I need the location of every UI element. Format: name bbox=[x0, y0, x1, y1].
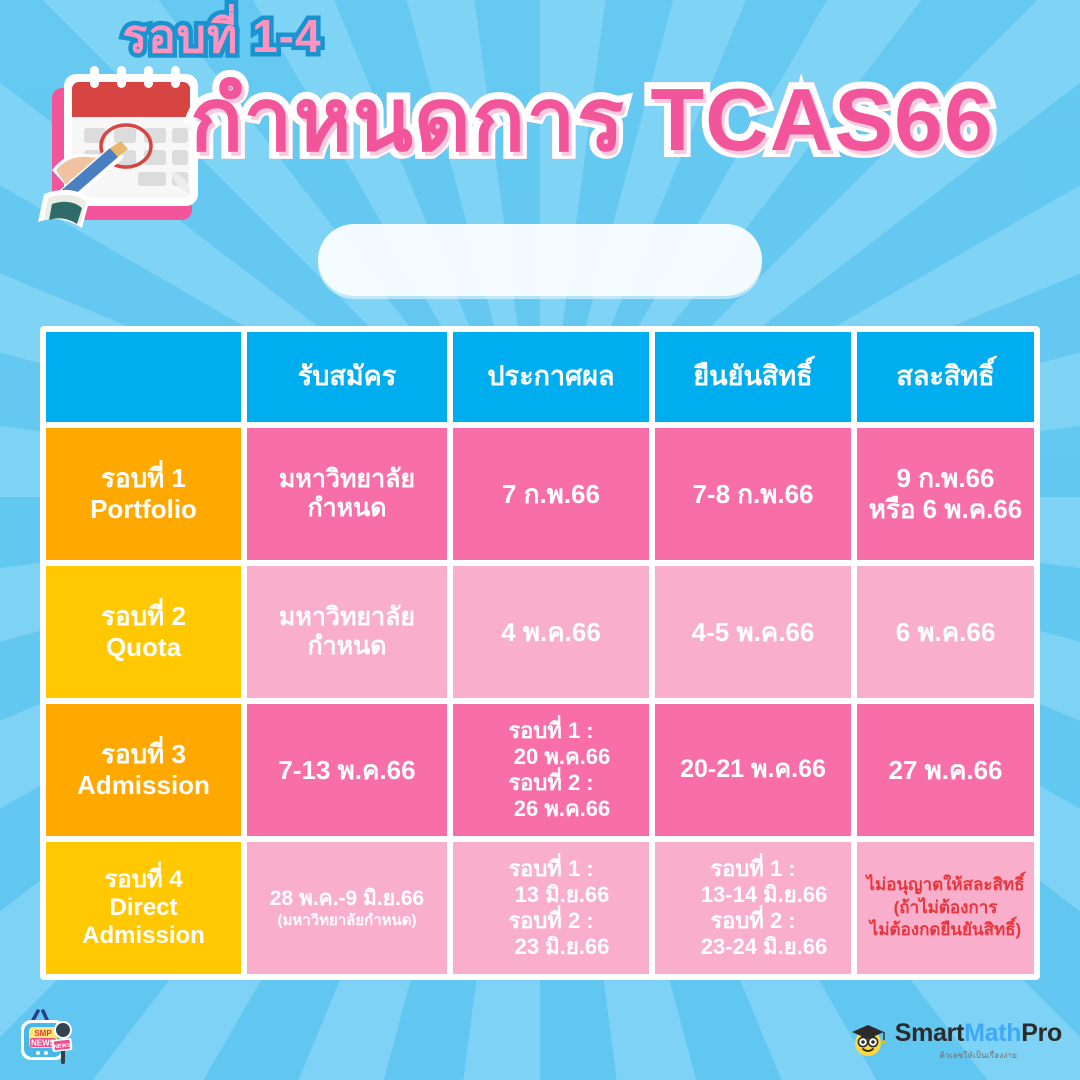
column-header-confirm: ยืนยันสิทธิ์ bbox=[655, 332, 851, 422]
brand-part-math: Math bbox=[964, 1019, 1021, 1047]
graduate-emoji-icon bbox=[848, 1020, 888, 1060]
smp-news-tv-icon: SMP NEWS NEWS bbox=[18, 1008, 88, 1072]
cell-line: 7 ก.พ.66 bbox=[502, 479, 600, 510]
cell-waive-round-2: 6 พ.ค.66 bbox=[857, 566, 1034, 698]
row-label-th: รอบที่ 1 bbox=[101, 463, 186, 494]
row-label-th: รอบที่ 4 bbox=[104, 866, 182, 894]
table-row: รอบที่ 1 Portfolio มหาวิทยาลัย กำหนด 7 ก… bbox=[46, 428, 1034, 560]
cell-announce-round-1: 7 ก.พ.66 bbox=[453, 428, 649, 560]
page-title-text: กำหนดการ TCAS66 bbox=[190, 70, 994, 169]
cell-waive-round-4: ไม่อนุญาตให้สละสิทธิ์ (ถ้าไม่ต้องการ ไม่… bbox=[857, 842, 1034, 974]
row-label-en: Admission bbox=[77, 770, 210, 801]
cell-line: 23-24 มิ.ย.66 bbox=[679, 934, 827, 960]
row-label-th: รอบที่ 2 bbox=[101, 601, 186, 632]
cell-confirm-round-4: รอบที่ 1 : 13-14 มิ.ย.66 รอบที่ 2 : 23-2… bbox=[655, 842, 851, 974]
row-label-round-3: รอบที่ 3 Admission bbox=[46, 704, 241, 836]
cell-line: 27 พ.ค.66 bbox=[888, 755, 1002, 786]
cell-line: มหาวิทยาลัย bbox=[279, 465, 415, 495]
brand-name: SmartMathPro bbox=[895, 1019, 1062, 1048]
row-label-en-line1: Direct bbox=[109, 894, 177, 922]
cell-line: รอบที่ 1 : bbox=[710, 856, 795, 882]
cell-announce-round-2: 4 พ.ค.66 bbox=[453, 566, 649, 698]
cell-line: รอบที่ 2 : bbox=[508, 770, 593, 796]
table-row: รอบที่ 3 Admission 7-13 พ.ค.66 รอบที่ 1 … bbox=[46, 704, 1034, 836]
cell-line: หรือ 6 พ.ค.66 bbox=[869, 494, 1023, 525]
cell-apply-round-4: 28 พ.ค.-9 มิ.ย.66 (มหาวิทยาลัยกำหนด) bbox=[247, 842, 447, 974]
brand-tagline: ติวเลขให้เป็นเรื่องง่าย bbox=[940, 1049, 1017, 1062]
row-label-en: Portfolio bbox=[90, 494, 197, 525]
cell-line: ไม่อนุญาตให้สละสิทธิ์ bbox=[866, 874, 1024, 897]
cell-line: รอบที่ 1 : bbox=[508, 856, 593, 882]
page-title: กำหนดการ TCAS66 bbox=[190, 72, 1050, 167]
column-header-waive: สละสิทธิ์ bbox=[857, 332, 1034, 422]
cell-apply-round-2: มหาวิทยาลัย กำหนด bbox=[247, 566, 447, 698]
cell-apply-round-1: มหาวิทยาลัย กำหนด bbox=[247, 428, 447, 560]
cell-confirm-round-2: 4-5 พ.ค.66 bbox=[655, 566, 851, 698]
column-header-apply: รับสมัคร bbox=[247, 332, 447, 422]
table-header-row: รับสมัคร ประกาศผล ยืนยันสิทธิ์ สละสิทธิ์ bbox=[46, 332, 1034, 422]
cell-line: รอบที่ 1 : bbox=[508, 718, 593, 744]
table-corner-cell bbox=[46, 332, 241, 422]
cell-waive-round-1: 9 ก.พ.66 หรือ 6 พ.ค.66 bbox=[857, 428, 1034, 560]
cell-line: ไม่ต้องกดยืนยันสิทธิ์) bbox=[870, 919, 1021, 942]
brand-part-smart: Smart bbox=[895, 1019, 964, 1047]
table-row: รอบที่ 4 Direct Admission 28 พ.ค.-9 มิ.ย… bbox=[46, 842, 1034, 974]
cell-apply-round-3: 7-13 พ.ค.66 bbox=[247, 704, 447, 836]
column-header-announce: ประกาศผล bbox=[453, 332, 649, 422]
row-label-round-2: รอบที่ 2 Quota bbox=[46, 566, 241, 698]
cell-line: 7-8 ก.พ.66 bbox=[692, 479, 813, 510]
cell-line: มหาวิทยาลัย bbox=[279, 603, 415, 633]
cell-line: 7-13 พ.ค.66 bbox=[278, 755, 415, 786]
brand-text-block: SmartMathPro ติวเลขให้เป็นเรื่องง่าย bbox=[895, 1019, 1062, 1062]
cell-line: 13-14 มิ.ย.66 bbox=[679, 882, 827, 908]
smartmathpro-brand-logo: SmartMathPro ติวเลขให้เป็นเรื่องง่าย bbox=[848, 1014, 1062, 1066]
table-row: รอบที่ 2 Quota มหาวิทยาลัย กำหนด 4 พ.ค.6… bbox=[46, 566, 1034, 698]
cell-waive-round-3: 27 พ.ค.66 bbox=[857, 704, 1034, 836]
row-label-th: รอบที่ 3 bbox=[101, 739, 186, 770]
cell-line: กำหนด bbox=[308, 494, 387, 524]
infographic-canvas: กำหนดการ TCAS66 รอบที่ 1-4 รับสมัคร ประก… bbox=[0, 0, 1080, 1080]
subtitle-pill bbox=[318, 224, 762, 296]
header-section: กำหนดการ TCAS66 รอบที่ 1-4 bbox=[0, 0, 1080, 310]
cell-line: 20 พ.ค.66 bbox=[492, 744, 611, 770]
row-label-en: Quota bbox=[106, 632, 181, 663]
row-label-round-1: รอบที่ 1 Portfolio bbox=[46, 428, 241, 560]
cell-confirm-round-3: 20-21 พ.ค.66 bbox=[655, 704, 851, 836]
cell-line: (ถ้าไม่ต้องการ bbox=[894, 897, 998, 920]
cell-line: 4-5 พ.ค.66 bbox=[692, 617, 815, 648]
cell-line: 9 ก.พ.66 bbox=[897, 463, 995, 494]
subtitle-text: รอบที่ 1-4 bbox=[0, 0, 444, 72]
cell-line: 26 พ.ค.66 bbox=[492, 796, 611, 822]
cell-line: 4 พ.ค.66 bbox=[501, 617, 601, 648]
cell-announce-round-4: รอบที่ 1 : 13 มิ.ย.66 รอบที่ 2 : 23 มิ.ย… bbox=[453, 842, 649, 974]
tcas-schedule-table: รับสมัคร ประกาศผล ยืนยันสิทธิ์ สละสิทธิ์… bbox=[40, 326, 1040, 980]
calendar-with-pen-icon bbox=[30, 52, 210, 237]
cell-line: 28 พ.ค.-9 มิ.ย.66 bbox=[270, 887, 424, 912]
brand-part-pro: Pro bbox=[1021, 1019, 1062, 1047]
cell-line: 6 พ.ค.66 bbox=[896, 617, 996, 648]
cell-line: 13 มิ.ย.66 bbox=[493, 882, 610, 908]
cell-line: 23 มิ.ย.66 bbox=[493, 934, 610, 960]
cell-line: รอบที่ 2 : bbox=[508, 908, 593, 934]
cell-line: รอบที่ 2 : bbox=[710, 908, 795, 934]
row-label-en-line2: Admission bbox=[82, 922, 205, 950]
cell-line: 20-21 พ.ค.66 bbox=[680, 755, 826, 785]
row-label-round-4: รอบที่ 4 Direct Admission bbox=[46, 842, 241, 974]
cell-announce-round-3: รอบที่ 1 : 20 พ.ค.66 รอบที่ 2 : 26 พ.ค.6… bbox=[453, 704, 649, 836]
cell-line: กำหนด bbox=[308, 632, 387, 662]
cell-confirm-round-1: 7-8 ก.พ.66 bbox=[655, 428, 851, 560]
svg-text:SMP: SMP bbox=[34, 1029, 52, 1038]
cell-note: (มหาวิทยาลัยกำหนด) bbox=[277, 912, 416, 930]
